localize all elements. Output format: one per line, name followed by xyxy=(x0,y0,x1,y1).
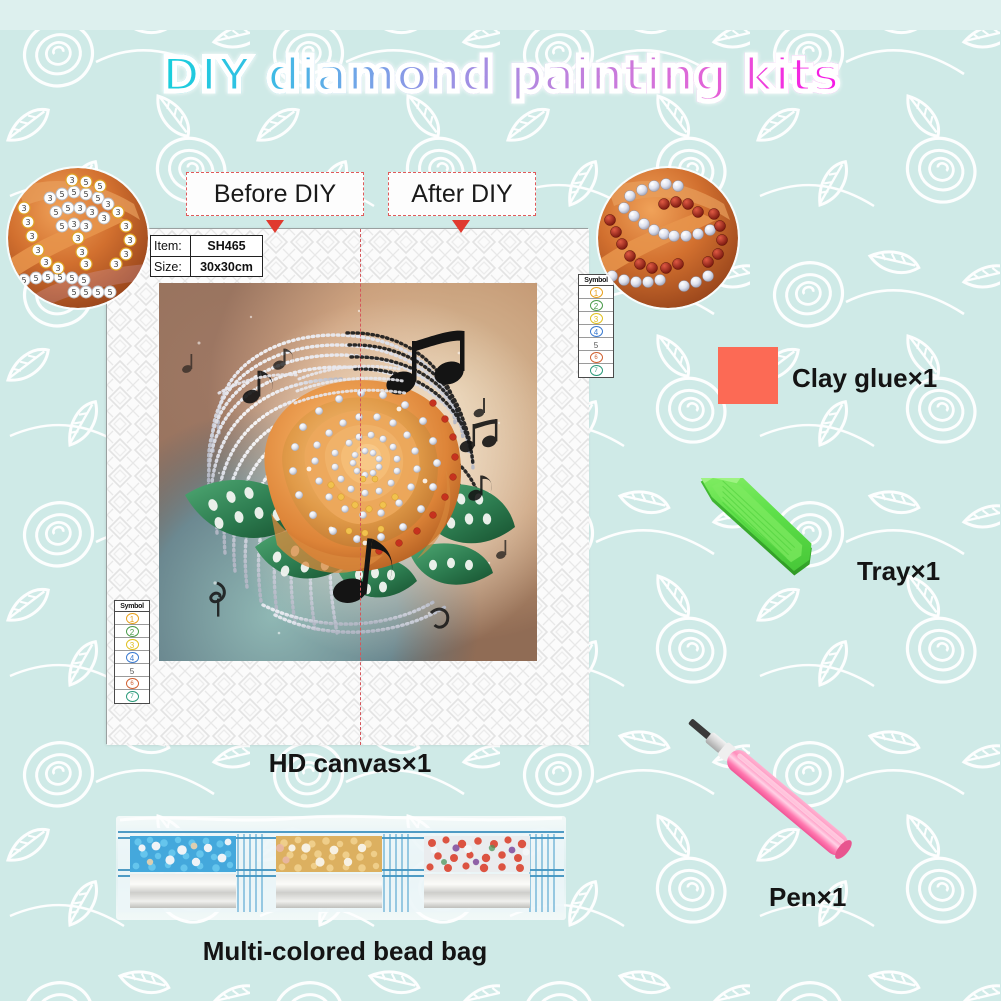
symbol-2: 2 xyxy=(126,626,139,637)
legend-row: 7 xyxy=(579,364,613,377)
page-title: DIY diamond painting kits xyxy=(162,48,840,103)
tray-image xyxy=(662,478,834,614)
svg-text:3: 3 xyxy=(29,232,34,241)
symbol-2: 2 xyxy=(590,300,603,311)
legend-row: 3 xyxy=(579,312,613,325)
legend-row: 5 xyxy=(579,338,613,351)
legend-header: Symbol xyxy=(115,601,149,612)
after-pointer-icon xyxy=(452,220,470,233)
symbol-3: 3 xyxy=(590,313,603,324)
svg-text:5: 5 xyxy=(65,204,70,213)
svg-text:5: 5 xyxy=(83,190,88,199)
symbol-6: 6 xyxy=(590,352,603,363)
pen-label: Pen×1 xyxy=(769,882,846,913)
product-info-table: Item: SH465 Size: 30x30cm xyxy=(150,235,263,277)
svg-text:3: 3 xyxy=(83,222,88,231)
bead-bag-label-wrap: Multi-colored bead bag xyxy=(0,936,690,967)
svg-text:3: 3 xyxy=(21,204,26,213)
after-diy-magnifier xyxy=(598,168,738,308)
info-item-key: Item: xyxy=(151,236,191,256)
svg-text:3: 3 xyxy=(43,258,48,267)
symbol-5: 5 xyxy=(590,339,603,350)
svg-text:5: 5 xyxy=(83,288,88,297)
svg-text:5: 5 xyxy=(59,190,64,199)
info-size-key: Size: xyxy=(151,257,191,276)
svg-text:5: 5 xyxy=(71,288,76,297)
symbol-legend-right: Symbol 1 2 3 4 5 6 7 xyxy=(578,274,614,378)
svg-text:3: 3 xyxy=(77,204,82,213)
svg-text:3: 3 xyxy=(113,260,118,269)
clay-glue-label: Clay glue×1 xyxy=(792,363,937,394)
tray-label: Tray×1 xyxy=(857,556,940,587)
before-diy-magnifier: 355 553 553 33 533 555 555 555 5 355 333… xyxy=(8,168,148,308)
svg-text:5: 5 xyxy=(81,276,86,285)
canvas-artwork xyxy=(159,283,537,661)
svg-text:3: 3 xyxy=(127,236,132,245)
before-pointer-icon xyxy=(266,220,284,233)
svg-text:5: 5 xyxy=(57,273,62,282)
svg-text:3: 3 xyxy=(71,220,76,229)
svg-text:5: 5 xyxy=(53,208,58,217)
before-after-divider xyxy=(360,229,361,745)
symbol-6: 6 xyxy=(126,678,139,689)
svg-text:3: 3 xyxy=(35,246,40,255)
legend-row: 3 xyxy=(115,638,149,651)
svg-text:3: 3 xyxy=(105,200,110,209)
symbol-7: 7 xyxy=(590,365,603,376)
svg-text:5: 5 xyxy=(83,178,88,187)
svg-text:5: 5 xyxy=(33,274,38,283)
clay-glue-image xyxy=(718,347,778,404)
symbol-7: 7 xyxy=(126,691,139,702)
svg-text:3: 3 xyxy=(123,222,128,231)
legend-row: 2 xyxy=(579,299,613,312)
symbol-3: 3 xyxy=(126,639,139,650)
legend-row: 6 xyxy=(579,351,613,364)
symbol-1: 1 xyxy=(590,287,603,298)
pen-image xyxy=(648,700,898,890)
symbol-1: 1 xyxy=(126,613,139,624)
svg-text:3: 3 xyxy=(55,264,60,273)
symbol-legend-left: Symbol 1 2 3 4 5 6 7 xyxy=(114,600,150,704)
svg-text:3: 3 xyxy=(79,248,84,257)
svg-text:5: 5 xyxy=(97,182,102,191)
svg-text:5: 5 xyxy=(107,288,112,297)
tag-before-diy[interactable]: Before DIY xyxy=(186,172,364,216)
svg-text:3: 3 xyxy=(115,208,120,217)
svg-text:5: 5 xyxy=(95,194,100,203)
svg-text:3: 3 xyxy=(75,234,80,243)
legend-row: 1 xyxy=(579,286,613,299)
symbol-5: 5 xyxy=(126,665,139,676)
svg-text:5: 5 xyxy=(59,222,64,231)
svg-text:5: 5 xyxy=(95,288,100,297)
svg-text:3: 3 xyxy=(101,214,106,223)
symbol-4: 4 xyxy=(590,326,603,337)
legend-row: 4 xyxy=(115,651,149,664)
legend-row: 5 xyxy=(115,664,149,677)
info-row-item: Item: SH465 xyxy=(151,236,262,256)
tag-after-diy[interactable]: After DIY xyxy=(388,172,536,216)
svg-text:3: 3 xyxy=(47,194,52,203)
svg-text:5: 5 xyxy=(69,274,74,283)
svg-text:3: 3 xyxy=(25,218,30,227)
tag-after-label: After DIY xyxy=(411,180,512,209)
hd-canvas-label-wrap: HD canvas×1 xyxy=(0,748,700,779)
legend-row: 4 xyxy=(579,325,613,338)
svg-text:5: 5 xyxy=(71,188,76,197)
legend-row: 1 xyxy=(115,612,149,625)
legend-row: 6 xyxy=(115,677,149,690)
legend-row: 7 xyxy=(115,690,149,703)
legend-header: Symbol xyxy=(579,275,613,286)
symbol-4: 4 xyxy=(126,652,139,663)
info-item-value: SH465 xyxy=(191,236,262,256)
title-container: DIY diamond painting kits xyxy=(0,48,1001,110)
bead-bag-label: Multi-colored bead bag xyxy=(203,936,488,966)
info-row-size: Size: 30x30cm xyxy=(151,256,262,276)
tag-before-label: Before DIY xyxy=(214,180,336,209)
info-size-value: 30x30cm xyxy=(191,257,262,276)
svg-text:5: 5 xyxy=(45,273,50,282)
hd-canvas-label: HD canvas×1 xyxy=(269,748,432,778)
svg-text:3: 3 xyxy=(89,208,94,217)
legend-row: 2 xyxy=(115,625,149,638)
hd-canvas-card: Item: SH465 Size: 30x30cm xyxy=(106,228,588,744)
bead-bag-image xyxy=(116,812,566,924)
svg-text:3: 3 xyxy=(83,260,88,269)
top-band xyxy=(0,0,1001,30)
svg-text:3: 3 xyxy=(69,176,74,185)
svg-text:3: 3 xyxy=(123,250,128,259)
